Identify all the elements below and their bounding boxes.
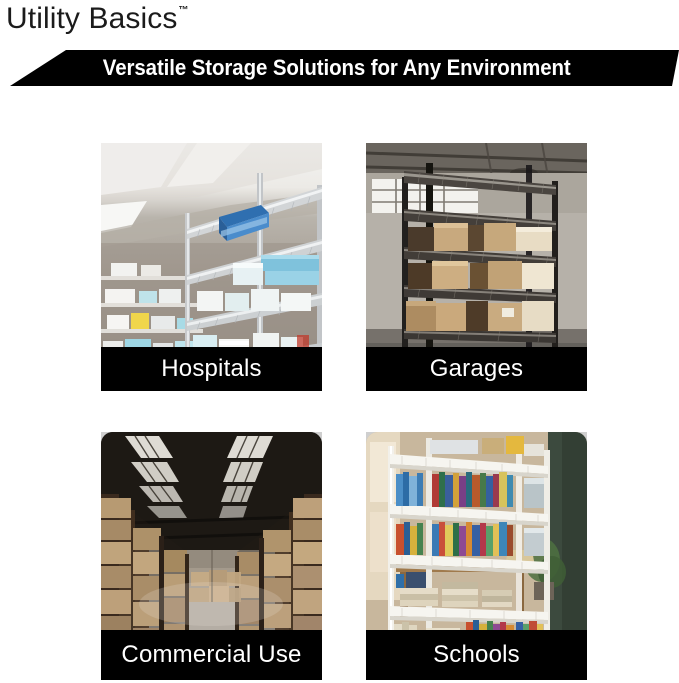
tile-label-garages: Garages — [366, 347, 587, 391]
tile-label-hospitals: Hospitals — [101, 347, 322, 391]
banner-headline: Versatile Storage Solutions for Any Envi… — [24, 50, 655, 86]
brand-name: Utility Basics — [6, 2, 177, 36]
brand-logo: Utility Basics ™ — [6, 2, 188, 38]
trademark-symbol: ™ — [178, 6, 188, 16]
category-tile-garages[interactable]: Garages — [366, 143, 587, 391]
category-grid: Hospitals — [101, 143, 586, 683]
headline-banner: Versatile Storage Solutions for Any Envi… — [0, 50, 679, 86]
category-tile-hospitals[interactable]: Hospitals — [101, 143, 322, 391]
tile-label-schools: Schools — [366, 630, 587, 680]
category-tile-schools[interactable]: Schools — [366, 432, 587, 680]
tile-label-commercial-use: Commercial Use — [101, 630, 322, 680]
category-tile-commercial-use[interactable]: Commercial Use — [101, 432, 322, 680]
